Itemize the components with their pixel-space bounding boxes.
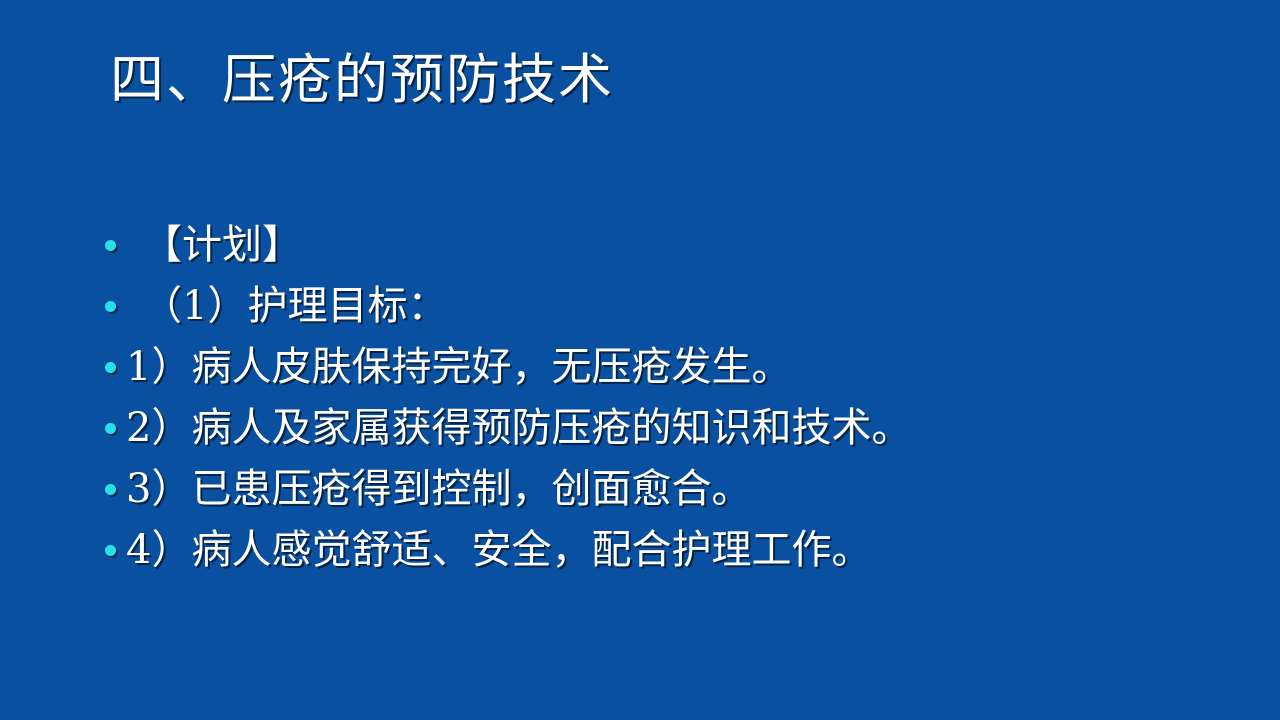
list-item: 4）病人感觉舒适、安全，配合护理工作。 [96,519,1216,580]
bullet-dot-icon [105,240,116,251]
page-title: 四、压疮的预防技术 [110,52,1190,109]
list-item: 【计划】 [96,214,1216,275]
bullet-dot-icon [105,301,116,312]
list-item-label: 1）病人皮肤保持完好，无压疮发生。 [126,347,791,387]
bullet-list: 【计划】 （1）护理目标： 1）病人皮肤保持完好，无压疮发生。 2）病人及家属获… [96,214,1216,580]
list-item-label: 2）病人及家属获得预防压疮的知识和技术。 [126,408,911,448]
list-item-label: 【计划】 [142,225,302,265]
list-item-label: 4）病人感觉舒适、安全，配合护理工作。 [126,530,871,570]
list-item-label: 3）已患压疮得到控制，创面愈合。 [126,469,751,509]
list-item: 1）病人皮肤保持完好，无压疮发生。 [96,336,1216,397]
list-item: （1）护理目标： [96,275,1216,336]
presentation-slide: 四、压疮的预防技术 【计划】 （1）护理目标： 1）病人皮肤保持完好，无压疮发生… [0,0,1280,720]
bullet-dot-icon [105,545,116,556]
list-item: 3）已患压疮得到控制，创面愈合。 [96,458,1216,519]
bullet-dot-icon [105,362,116,373]
list-item-label: （1）护理目标： [142,286,447,326]
bullet-dot-icon [105,423,116,434]
list-item: 2）病人及家属获得预防压疮的知识和技术。 [96,397,1216,458]
bullet-dot-icon [105,484,116,495]
